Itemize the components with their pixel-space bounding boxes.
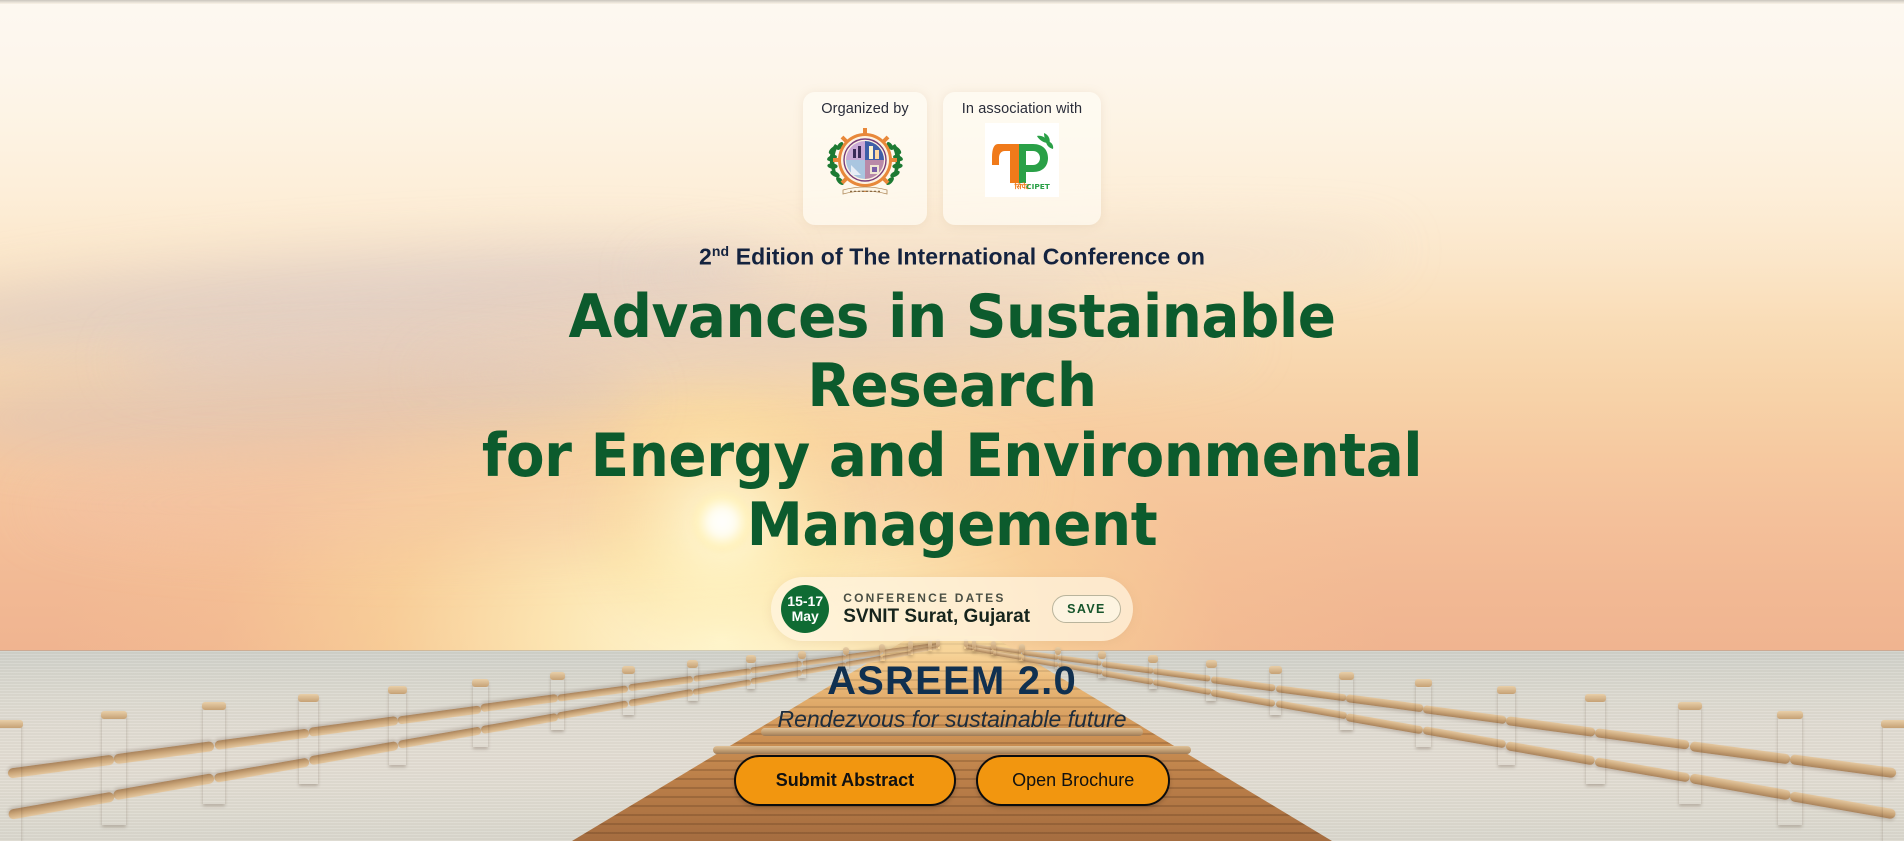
date-circle: 15-17 May bbox=[781, 585, 829, 633]
association-caption: In association with bbox=[962, 101, 1082, 117]
cta-button-group: Submit Abstract Open Brochure bbox=[734, 755, 1170, 806]
submit-abstract-button[interactable]: Submit Abstract bbox=[734, 755, 956, 806]
conference-acronym: ASREEM 2.0 bbox=[827, 659, 1077, 704]
conference-dates-badge: 15-17 May CONFERENCE DATES SVNIT Surat, … bbox=[771, 577, 1133, 641]
conference-edition-kicker: 2nd Edition of The International Confere… bbox=[699, 243, 1205, 271]
title-line-1: Advances in Sustainable Research bbox=[435, 283, 1469, 422]
title-line-3: Management bbox=[435, 491, 1469, 561]
organizer-caption: Organized by bbox=[821, 101, 908, 117]
date-month: May bbox=[792, 609, 819, 624]
hero-section: Organized by bbox=[0, 0, 1904, 841]
svg-text:CIPET: CIPET bbox=[1026, 182, 1050, 191]
edition-ordinal-suffix: nd bbox=[712, 243, 729, 259]
open-brochure-button[interactable]: Open Brochure bbox=[976, 755, 1170, 806]
page-top-edge bbox=[0, 0, 1904, 4]
title-line-2: for Energy and Environmental bbox=[435, 422, 1469, 492]
venue-text: SVNIT Surat, Gujarat bbox=[843, 606, 1030, 628]
conference-dates-label: CONFERENCE DATES bbox=[843, 591, 1030, 605]
date-day-range: 15-17 bbox=[787, 594, 823, 609]
association-logo-card: In association with bbox=[943, 92, 1101, 225]
conference-tagline: Rendezvous for sustainable future bbox=[777, 706, 1126, 733]
partner-logos: Organized by bbox=[803, 92, 1101, 225]
edition-rest: Edition of The International Conference … bbox=[729, 244, 1205, 270]
save-date-button[interactable]: SAVE bbox=[1052, 595, 1121, 623]
cipet-logo: सिपेट CIPET bbox=[985, 123, 1059, 197]
edition-number: 2 bbox=[699, 244, 712, 270]
organizer-logo-card: Organized by bbox=[803, 92, 927, 225]
page-title: Advances in Sustainable Research for Ene… bbox=[435, 283, 1469, 561]
svnit-emblem-logo bbox=[821, 123, 909, 201]
